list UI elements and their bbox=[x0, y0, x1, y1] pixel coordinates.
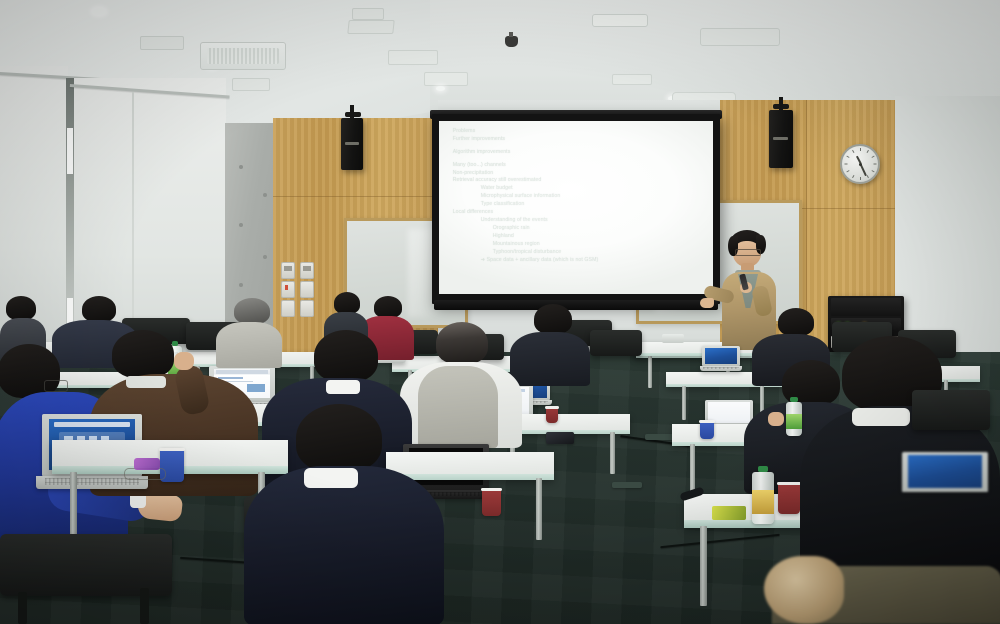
window-light-gap bbox=[67, 128, 73, 174]
slide-line: Many (too...) channels bbox=[453, 162, 705, 170]
ceiling-vent bbox=[612, 74, 652, 85]
attendee-hand bbox=[174, 352, 194, 370]
slide-line: Algorithm improvements bbox=[453, 149, 705, 157]
slide-line: ➜ Space data + ancillary data (which is … bbox=[453, 257, 705, 265]
chair-leg bbox=[140, 588, 149, 624]
table-leg bbox=[536, 478, 542, 540]
fur-hood-trim bbox=[764, 556, 844, 624]
slide-content: ProblemsFurther improvementsAlgorithm im… bbox=[453, 128, 705, 291]
slide-line: Type classification bbox=[453, 201, 705, 209]
bottle-cap bbox=[790, 397, 798, 402]
table-leg bbox=[682, 386, 686, 420]
paper-cup-blue-right bbox=[700, 420, 714, 439]
chair-front-left[interactable] bbox=[0, 534, 172, 596]
attendee-hair bbox=[296, 404, 382, 472]
bottle-label bbox=[752, 490, 774, 514]
ceiling-vent bbox=[388, 50, 438, 65]
slide-line: Understanding of the events bbox=[453, 217, 705, 225]
ceiling-vent bbox=[592, 14, 648, 27]
slide-line: Local differences bbox=[453, 209, 705, 217]
slide-line: Microphysical surface information bbox=[453, 193, 705, 201]
paper-cup-red bbox=[546, 406, 558, 423]
smartphone[interactable] bbox=[546, 432, 574, 444]
attendee-hair bbox=[436, 322, 488, 364]
cup-rim bbox=[545, 406, 559, 409]
light-switch-indicator[interactable] bbox=[281, 281, 295, 298]
ceiling-vent bbox=[352, 8, 384, 20]
attendee-glasses-icon bbox=[44, 380, 68, 392]
laptop-back-right[interactable] bbox=[700, 346, 742, 372]
ceiling-downlight bbox=[436, 86, 445, 91]
light-switch[interactable] bbox=[300, 281, 314, 298]
ceiling-vent bbox=[424, 72, 468, 86]
av-blank-panel bbox=[831, 298, 901, 316]
attendee-collar bbox=[304, 468, 358, 488]
laptop-lid bbox=[902, 452, 988, 492]
light-switch-group[interactable] bbox=[281, 262, 315, 316]
cup-rim bbox=[481, 488, 502, 491]
ceiling-vent bbox=[140, 36, 184, 50]
chair-right-back[interactable] bbox=[912, 390, 990, 430]
attendee-collar bbox=[326, 380, 360, 394]
light-switch[interactable] bbox=[281, 262, 295, 279]
cup-rim bbox=[777, 482, 801, 485]
classroom-photo: ProblemsFurther improvementsAlgorithm im… bbox=[0, 0, 1000, 624]
attendee-hair bbox=[82, 296, 116, 322]
paper-cup-red-right-front bbox=[778, 482, 800, 514]
light-switch[interactable] bbox=[300, 262, 314, 279]
attendee-hair bbox=[778, 308, 814, 336]
ceiling-vent bbox=[700, 28, 780, 46]
attendee-hair bbox=[6, 296, 36, 320]
laptop-screen bbox=[908, 455, 982, 488]
clock-centre-pin bbox=[859, 163, 862, 166]
chair-back[interactable] bbox=[590, 330, 642, 356]
wall-clock bbox=[840, 144, 880, 184]
attendee-fur-coat bbox=[742, 548, 1000, 624]
security-camera-icon bbox=[505, 36, 518, 47]
table-leg bbox=[700, 526, 707, 606]
attendee-hair bbox=[112, 330, 174, 378]
slide-line: Further improvements bbox=[453, 136, 705, 144]
presenter-hand-left bbox=[700, 298, 714, 308]
laptop-right-edge[interactable] bbox=[902, 452, 992, 500]
wall-speaker-right bbox=[769, 110, 793, 168]
cup-rim bbox=[699, 420, 715, 423]
ceiling-downlight bbox=[92, 8, 106, 15]
wood-seam bbox=[273, 196, 438, 197]
attendee-navy-suit-foreground bbox=[244, 404, 444, 624]
snack-packet bbox=[712, 506, 746, 520]
table-leg bbox=[648, 356, 652, 388]
table-leg bbox=[610, 432, 615, 474]
cup-rim bbox=[159, 448, 185, 451]
slide-line: Orographic rain bbox=[453, 225, 705, 233]
slide-line: Mountainous region bbox=[453, 241, 705, 249]
attendee-hair bbox=[234, 298, 270, 324]
light-switch[interactable] bbox=[281, 300, 295, 317]
attendee-hair bbox=[334, 292, 360, 314]
clock-minute-hand bbox=[860, 164, 867, 176]
attendee-hair bbox=[534, 304, 572, 334]
attendee-suit bbox=[244, 466, 444, 624]
chair-leg bbox=[18, 592, 27, 624]
bottle-cap bbox=[758, 466, 769, 472]
projection-screen: ProblemsFurther improvementsAlgorithm im… bbox=[432, 114, 720, 304]
laptop-lid bbox=[702, 346, 740, 366]
projector-device bbox=[662, 334, 684, 343]
presenter-glasses-icon bbox=[735, 249, 761, 256]
ceiling-vent bbox=[347, 20, 394, 34]
attendee-hand bbox=[768, 412, 784, 426]
laptop-base bbox=[700, 366, 742, 371]
attendee-hair bbox=[314, 330, 378, 382]
ceiling-vent bbox=[232, 78, 270, 91]
slide-line: Problems bbox=[453, 128, 705, 136]
slide-line: Typhoon/tropical disturbance bbox=[453, 249, 705, 257]
laptop-screen bbox=[705, 348, 738, 364]
wall-speaker-left bbox=[341, 118, 363, 170]
light-switch[interactable] bbox=[300, 300, 314, 317]
attendee-collar bbox=[852, 408, 910, 426]
attendee-collar bbox=[126, 376, 166, 388]
attendee-hair bbox=[374, 296, 402, 318]
bottle-juice bbox=[752, 472, 774, 524]
power-strip[interactable] bbox=[612, 482, 642, 488]
paper-cup-red-front bbox=[482, 488, 501, 516]
projection-screen-surface: ProblemsFurther improvementsAlgorithm im… bbox=[439, 121, 713, 294]
snack-wrapper bbox=[134, 458, 160, 470]
slide-line: Highland bbox=[453, 233, 705, 241]
ceiling-air-conditioner bbox=[200, 42, 286, 70]
